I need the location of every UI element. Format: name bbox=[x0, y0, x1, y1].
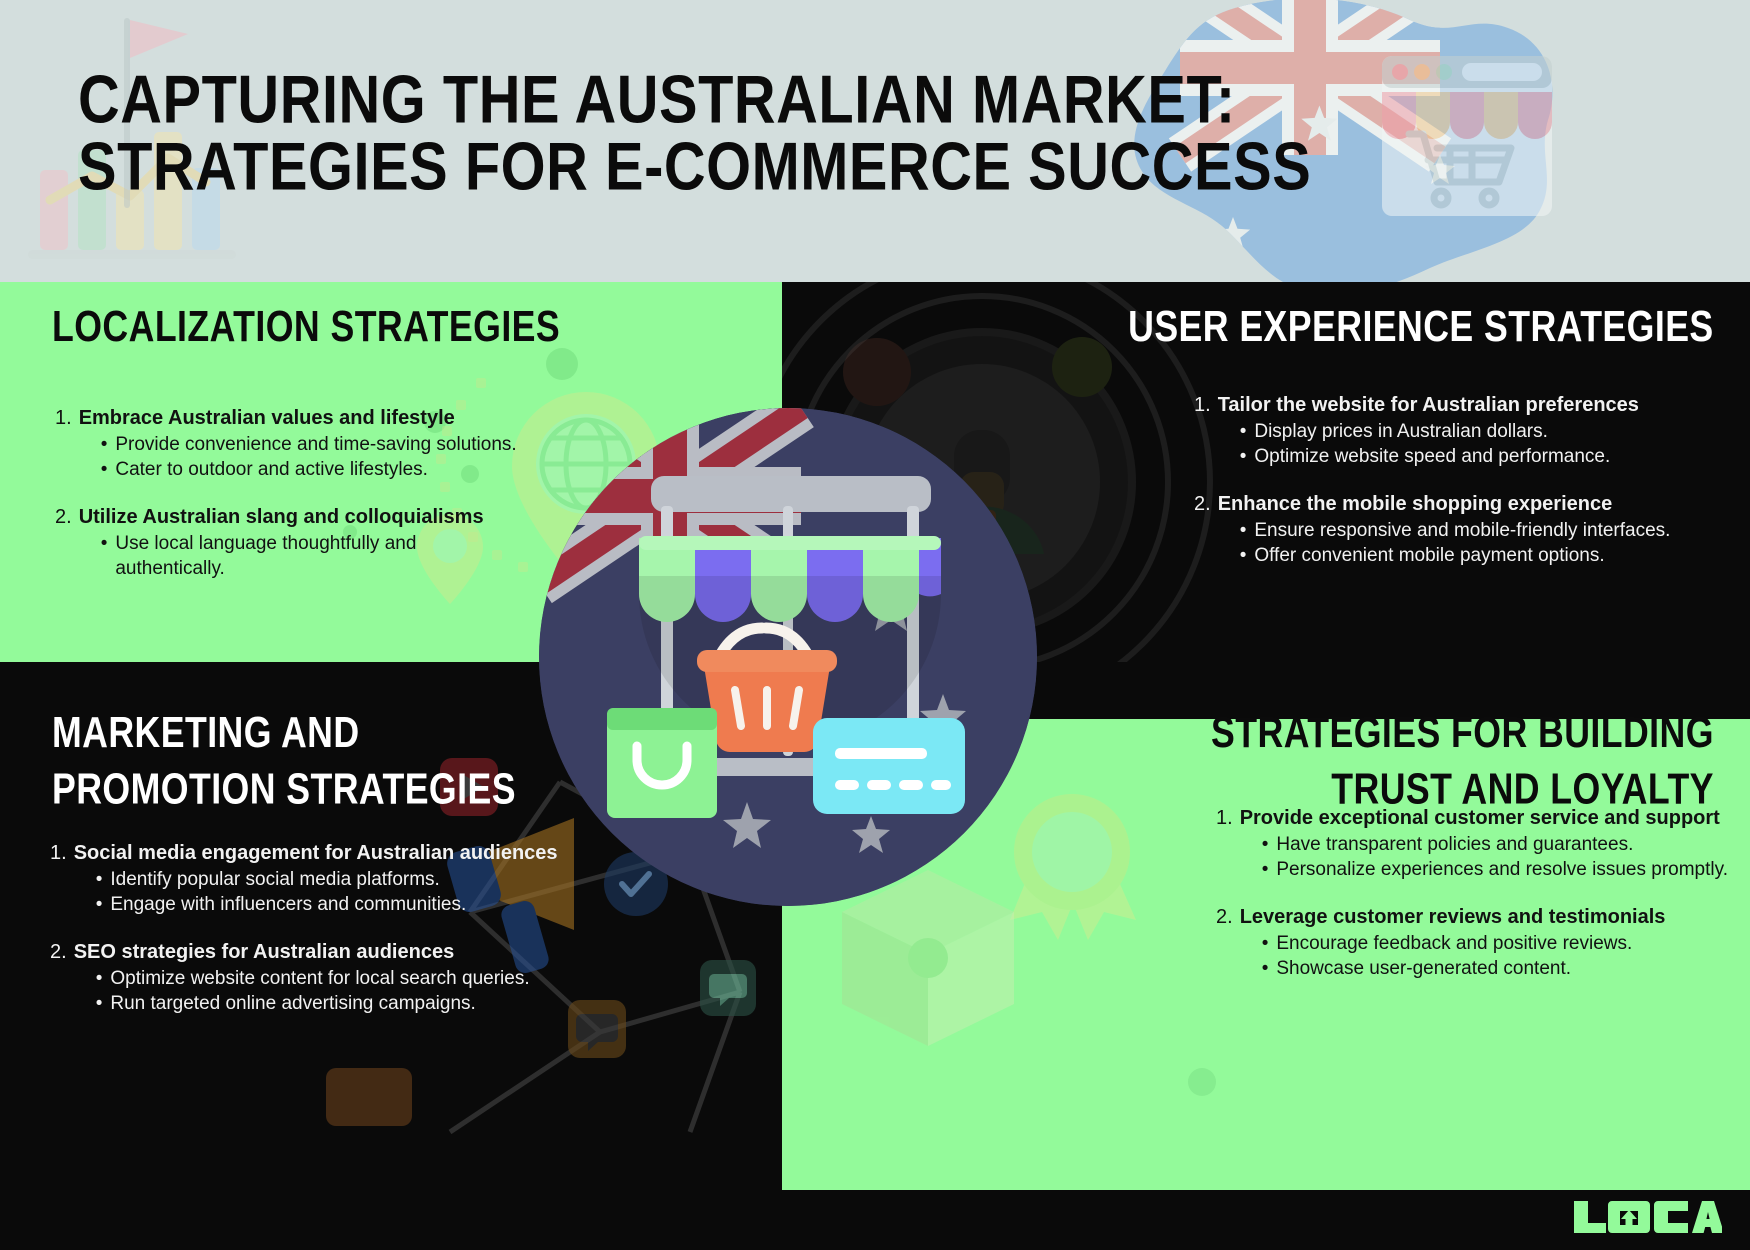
sub-bullet-text: Provide convenience and time-saving solu… bbox=[115, 432, 525, 457]
list-item-body: Embrace Australian values and lifestyle•… bbox=[79, 405, 525, 482]
list-item-number: 1. bbox=[55, 405, 79, 482]
heading-marketing-line1: MARKETING AND bbox=[52, 706, 516, 762]
package-box-icon bbox=[842, 870, 1014, 1046]
infographic-canvas: CAPTURING THE AUSTRALIAN MARKET: STRATEG… bbox=[0, 0, 1750, 1250]
sub-bullet-text: Engage with influencers and communities. bbox=[110, 892, 580, 917]
title-line-2: STRATEGIES FOR E-COMMERCE SUCCESS bbox=[78, 129, 1311, 205]
bullet-dot-icon: • bbox=[96, 867, 111, 892]
locad-logo[interactable]: LOCAD bbox=[1572, 1197, 1722, 1237]
list-item: 1.Provide exceptional customer service a… bbox=[1216, 805, 1736, 882]
sub-bullet-text: Display prices in Australian dollars. bbox=[1254, 419, 1734, 444]
list-item-body: Leverage customer reviews and testimonia… bbox=[1240, 904, 1736, 981]
list-item-body: Tailor the website for Australian prefer… bbox=[1218, 392, 1734, 469]
sub-bullet-item: •Run targeted online advertising campaig… bbox=[74, 991, 580, 1016]
title-line-1: CAPTURING THE AUSTRALIAN MARKET: bbox=[78, 62, 1311, 138]
sub-bullet-item: •Encourage feedback and positive reviews… bbox=[1240, 931, 1736, 956]
list-user-experience: 1.Tailor the website for Australian pref… bbox=[1194, 392, 1734, 570]
list-marketing: 1.Social media engagement for Australian… bbox=[50, 840, 580, 1018]
sub-bullet-item: •Use local language thoughtfully and aut… bbox=[79, 531, 525, 581]
sub-bullet-list: •Have transparent policies and guarantee… bbox=[1240, 832, 1736, 882]
list-item-body: Enhance the mobile shopping experience•E… bbox=[1218, 491, 1734, 568]
bullet-dot-icon: • bbox=[1240, 419, 1255, 444]
bullet-dot-icon: • bbox=[1240, 543, 1255, 568]
list-localization: 1.Embrace Australian values and lifestyl… bbox=[55, 405, 525, 583]
bullet-dot-icon: • bbox=[1262, 857, 1277, 882]
heading-marketing: MARKETING AND PROMOTION STRATEGIES bbox=[52, 706, 516, 817]
sub-bullet-list: •Identify popular social media platforms… bbox=[74, 867, 580, 917]
list-item: 1.Embrace Australian values and lifestyl… bbox=[55, 405, 525, 482]
list-item: 1.Social media engagement for Australian… bbox=[50, 840, 580, 917]
list-item-body: SEO strategies for Australian audiences•… bbox=[74, 939, 580, 1016]
list-item-body: Provide exceptional customer service and… bbox=[1240, 805, 1736, 882]
award-ribbon-icon bbox=[1010, 794, 1136, 940]
sub-bullet-item: •Engage with influencers and communities… bbox=[74, 892, 580, 917]
center-illustration bbox=[539, 408, 1037, 906]
bullet-dot-icon: • bbox=[96, 966, 111, 991]
bullet-dot-icon: • bbox=[101, 531, 116, 581]
sub-bullet-text: Showcase user-generated content. bbox=[1276, 956, 1736, 981]
bullet-dot-icon: • bbox=[1262, 832, 1277, 857]
bullet-dot-icon: • bbox=[101, 432, 116, 457]
list-item-title: Enhance the mobile shopping experience bbox=[1218, 491, 1734, 517]
sub-bullet-list: •Optimize website content for local sear… bbox=[74, 966, 580, 1016]
sub-bullet-list: •Provide convenience and time-saving sol… bbox=[79, 432, 525, 482]
sub-bullet-text: Optimize website content for local searc… bbox=[110, 966, 580, 991]
list-item: 2.SEO strategies for Australian audience… bbox=[50, 939, 580, 1016]
sub-bullet-list: •Use local language thoughtfully and aut… bbox=[79, 531, 525, 581]
heading-localization: LOCALIZATION STRATEGIES bbox=[52, 300, 560, 356]
list-item-number: 1. bbox=[1216, 805, 1240, 882]
shopping-bag-icon bbox=[607, 708, 717, 818]
list-item-number: 2. bbox=[50, 939, 74, 1016]
list-item-title: Tailor the website for Australian prefer… bbox=[1218, 392, 1734, 418]
locad-wordmark bbox=[1572, 1197, 1722, 1237]
sub-bullet-item: •Personalize experiences and resolve iss… bbox=[1240, 857, 1736, 882]
market-stall-graphic bbox=[539, 408, 1037, 906]
list-item-title: SEO strategies for Australian audiences bbox=[74, 939, 580, 965]
header-banner: CAPTURING THE AUSTRALIAN MARKET: STRATEG… bbox=[0, 0, 1750, 282]
list-item: 2.Utilize Australian slang and colloquia… bbox=[55, 504, 525, 581]
heading-marketing-line2: PROMOTION STRATEGIES bbox=[52, 762, 516, 818]
heading-trust-line1: STRATEGIES FOR BUILDING bbox=[1211, 706, 1714, 762]
device-icon bbox=[326, 1068, 412, 1126]
bullet-dot-icon: • bbox=[96, 892, 111, 917]
list-trust: 1.Provide exceptional customer service a… bbox=[1216, 805, 1736, 983]
list-item-number: 2. bbox=[55, 504, 79, 581]
list-item: 2.Enhance the mobile shopping experience… bbox=[1194, 491, 1734, 568]
sub-bullet-text: Use local language thoughtfully and auth… bbox=[115, 531, 525, 581]
footer-strip bbox=[0, 1190, 1750, 1250]
list-item-title: Embrace Australian values and lifestyle bbox=[79, 405, 525, 431]
list-item-body: Social media engagement for Australian a… bbox=[74, 840, 580, 917]
bullet-dot-icon: • bbox=[1240, 444, 1255, 469]
sub-bullet-item: •Have transparent policies and guarantee… bbox=[1240, 832, 1736, 857]
heading-user-experience: USER EXPERIENCE STRATEGIES bbox=[1128, 300, 1714, 356]
bullet-dot-icon: • bbox=[101, 457, 116, 482]
list-item-title: Leverage customer reviews and testimonia… bbox=[1240, 904, 1736, 930]
list-item-title: Utilize Australian slang and colloquiali… bbox=[79, 504, 525, 530]
heading-trust: STRATEGIES FOR BUILDING TRUST AND LOYALT… bbox=[1211, 706, 1714, 817]
sub-bullet-text: Have transparent policies and guarantees… bbox=[1276, 832, 1736, 857]
sub-bullet-list: •Display prices in Australian dollars.•O… bbox=[1218, 419, 1734, 469]
list-item-number: 2. bbox=[1216, 904, 1240, 981]
list-item: 2.Leverage customer reviews and testimon… bbox=[1216, 904, 1736, 981]
sub-bullet-item: •Identify popular social media platforms… bbox=[74, 867, 580, 892]
list-item-title: Provide exceptional customer service and… bbox=[1240, 805, 1736, 831]
sub-bullet-item: •Cater to outdoor and active lifestyles. bbox=[79, 457, 525, 482]
list-item: 1.Tailor the website for Australian pref… bbox=[1194, 392, 1734, 469]
sub-bullet-text: Cater to outdoor and active lifestyles. bbox=[115, 457, 525, 482]
storefront-browser-icon bbox=[1382, 56, 1552, 216]
sub-bullet-text: Ensure responsive and mobile-friendly in… bbox=[1254, 518, 1734, 543]
list-item-title: Social media engagement for Australian a… bbox=[74, 840, 580, 866]
bullet-dot-icon: • bbox=[96, 991, 111, 1016]
list-item-number: 1. bbox=[50, 840, 74, 917]
sub-bullet-item: •Optimize website content for local sear… bbox=[74, 966, 580, 991]
sub-bullet-item: •Provide convenience and time-saving sol… bbox=[79, 432, 525, 457]
bullet-dot-icon: • bbox=[1262, 956, 1277, 981]
sub-bullet-item: •Display prices in Australian dollars. bbox=[1218, 419, 1734, 444]
sub-bullet-item: •Ensure responsive and mobile-friendly i… bbox=[1218, 518, 1734, 543]
credit-card-icon bbox=[813, 718, 965, 814]
page-title: CAPTURING THE AUSTRALIAN MARKET: STRATEG… bbox=[78, 62, 1231, 190]
bullet-dot-icon: • bbox=[1240, 518, 1255, 543]
sub-bullet-item: •Showcase user-generated content. bbox=[1240, 956, 1736, 981]
sub-bullet-item: •Optimize website speed and performance. bbox=[1218, 444, 1734, 469]
bullet-dot-icon: • bbox=[1262, 931, 1277, 956]
sub-bullet-item: •Offer convenient mobile payment options… bbox=[1218, 543, 1734, 568]
list-item-number: 2. bbox=[1194, 491, 1218, 568]
sub-bullet-text: Identify popular social media platforms. bbox=[110, 867, 580, 892]
list-item-number: 1. bbox=[1194, 392, 1218, 469]
sub-bullet-list: •Ensure responsive and mobile-friendly i… bbox=[1218, 518, 1734, 568]
sub-bullet-text: Optimize website speed and performance. bbox=[1254, 444, 1734, 469]
sub-bullet-text: Personalize experiences and resolve issu… bbox=[1276, 857, 1736, 882]
sub-bullet-text: Offer convenient mobile payment options. bbox=[1254, 543, 1734, 568]
list-item-body: Utilize Australian slang and colloquiali… bbox=[79, 504, 525, 581]
sub-bullet-text: Encourage feedback and positive reviews. bbox=[1276, 931, 1736, 956]
sub-bullet-text: Run targeted online advertising campaign… bbox=[110, 991, 580, 1016]
sub-bullet-list: •Encourage feedback and positive reviews… bbox=[1240, 931, 1736, 981]
